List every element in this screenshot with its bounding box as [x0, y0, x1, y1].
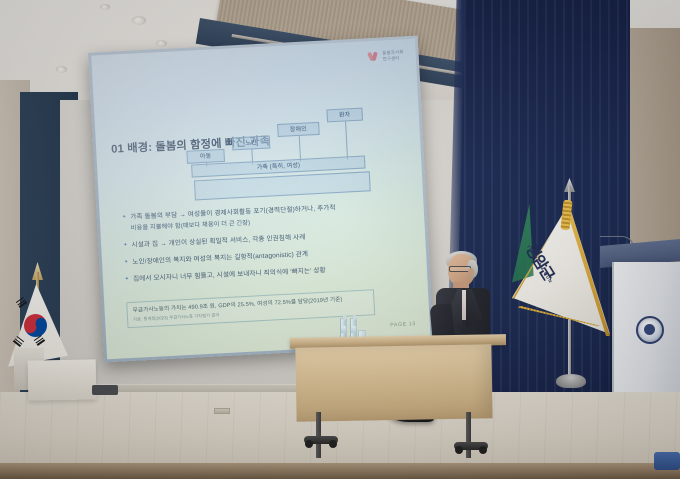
diagram-box-child: 아동	[186, 149, 225, 164]
bullet-icon: ✦	[125, 276, 130, 285]
diagram-box-elderly: 노인	[232, 135, 271, 150]
table-caster	[454, 442, 488, 450]
bullet-icon: ✦	[122, 213, 127, 222]
list-item: ✦ 가족 돌봄의 부담 → 여성들이 경제사회활동 포기(경력단절)하거나, 추…	[122, 200, 408, 233]
projection-screen-frame: 돌봄과사회 연구센터 01 배경: 돌봄의 함정에 빠진 가족 아동 노인 장애…	[88, 36, 434, 363]
diagram-box-patient: 환자	[326, 108, 363, 123]
water-bottle	[340, 318, 347, 338]
stage-front-edge	[0, 463, 680, 479]
bullet-text: 가족 돌봄의 부담 → 여성들이 경제사회활동 포기(경력단절)하거나, 추가적…	[130, 200, 407, 233]
slide-logo-text: 돌봄과사회 연구센터	[382, 50, 404, 61]
yeongam-gun-flag: 영암군 YEONGAM-GUN	[506, 178, 626, 383]
projection-screen: 돌봄과사회 연구센터 01 배경: 돌봄의 함정에 빠진 가족 아동 노인 장애…	[91, 39, 430, 360]
bottle-label	[341, 326, 346, 333]
lecture-hall-photo: 돌봄과사회 연구센터 01 배경: 돌봄의 함정에 빠진 가족 아동 노인 장애…	[0, 0, 680, 479]
speaker-ear	[468, 268, 474, 277]
table-leg	[466, 412, 471, 458]
slide-logo: 돌봄과사회 연구센터	[368, 49, 404, 62]
slide-footnote: 무급가사노동의 가치는 490.9조 원, GDP의 25.5%, 여성의 72…	[132, 295, 369, 324]
recessed-light	[100, 4, 110, 10]
background-table	[28, 359, 97, 400]
trigram-icon	[16, 297, 27, 308]
bullet-text: 집에서 모시자니 너무 힘들고, 시설에 보내자니 죄의식에 '빠지는' 상황	[133, 263, 410, 285]
recessed-light	[132, 16, 146, 25]
diagram-box-disabled: 장애인	[277, 122, 320, 137]
background-dark-object	[92, 385, 118, 395]
speaker-table-front	[295, 344, 492, 421]
slide-footnote-box: 무급가사노동의 가치는 490.9조 원, GDP의 25.5%, 여성의 72…	[126, 289, 375, 328]
table-caster	[304, 436, 338, 444]
bottle-label	[351, 326, 356, 333]
diagram-connector	[345, 121, 348, 159]
slide-bullet-list: ✦ 가족 돌봄의 부담 → 여성들이 경제사회활동 포기(경력단절)하거나, 추…	[122, 200, 410, 293]
slide-page-number: PAGE 13	[390, 321, 416, 328]
foreground-blue-object	[654, 452, 680, 470]
recessed-light	[56, 66, 67, 73]
floor-access-plate	[214, 408, 230, 414]
logo-line-2: 연구센터	[382, 55, 399, 61]
table-leg	[316, 412, 321, 458]
bullet-icon: ✦	[124, 258, 129, 267]
slide-diagram: 아동 노인 장애인 환자 가족 (특히, 여성)	[182, 94, 365, 173]
center-logo-icon	[368, 51, 380, 63]
recessed-light	[156, 40, 167, 47]
flag-stand-base	[556, 374, 586, 388]
circular-emblem-icon	[636, 316, 664, 344]
bullet-icon: ✦	[123, 241, 128, 250]
water-bottle	[350, 318, 357, 338]
